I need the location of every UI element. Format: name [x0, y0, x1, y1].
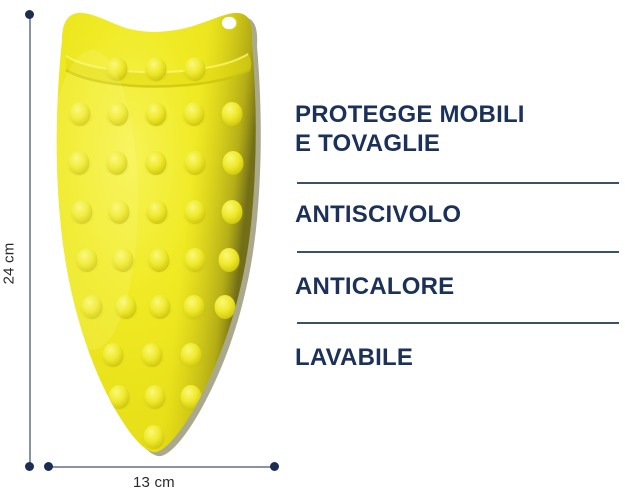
width-dimension-marker-right	[270, 462, 279, 471]
feature-item-lavabile: LAVABILE	[295, 343, 621, 372]
feature-label: ANTISCIVOLO	[295, 200, 621, 229]
feature-label: ANTICALORE	[295, 272, 621, 301]
height-dimension-marker-bottom	[25, 462, 34, 471]
feature-divider	[297, 182, 619, 184]
bump-row	[104, 57, 208, 83]
width-dimension-marker-left	[44, 462, 53, 471]
feature-label: LAVABILE	[295, 343, 621, 372]
feature-label: PROTEGGE MOBILI E TOVAGLIE	[295, 100, 621, 159]
width-dimension-line	[48, 466, 274, 468]
product-feature-infographic: 24 cm 13 cm PROTEGGE MOBILI E TOVAGLIE A…	[0, 0, 625, 500]
width-dimension-label: 13 cm	[133, 474, 175, 491]
feature-divider	[297, 251, 619, 253]
mat-highlight	[46, 50, 138, 350]
feature-divider	[297, 322, 619, 324]
hanging-hole	[221, 16, 237, 30]
height-dimension-label: 24 cm	[0, 243, 17, 285]
bump-row	[100, 343, 204, 369]
product-image-panel: 24 cm 13 cm	[0, 0, 290, 500]
feature-list: PROTEGGE MOBILI E TOVAGLIE ANTISCIVOLO A…	[295, 0, 625, 500]
bump-row	[106, 385, 204, 411]
feature-item-antiscivolo: ANTISCIVOLO	[295, 200, 621, 229]
height-dimension-marker-top	[25, 10, 34, 19]
product-photo-iron-mat	[0, 0, 290, 500]
feature-item-anticalore: ANTICALORE	[295, 272, 621, 301]
feature-item-protegge-mobili: PROTEGGE MOBILI E TOVAGLIE	[295, 100, 621, 159]
height-dimension-line	[29, 14, 31, 467]
